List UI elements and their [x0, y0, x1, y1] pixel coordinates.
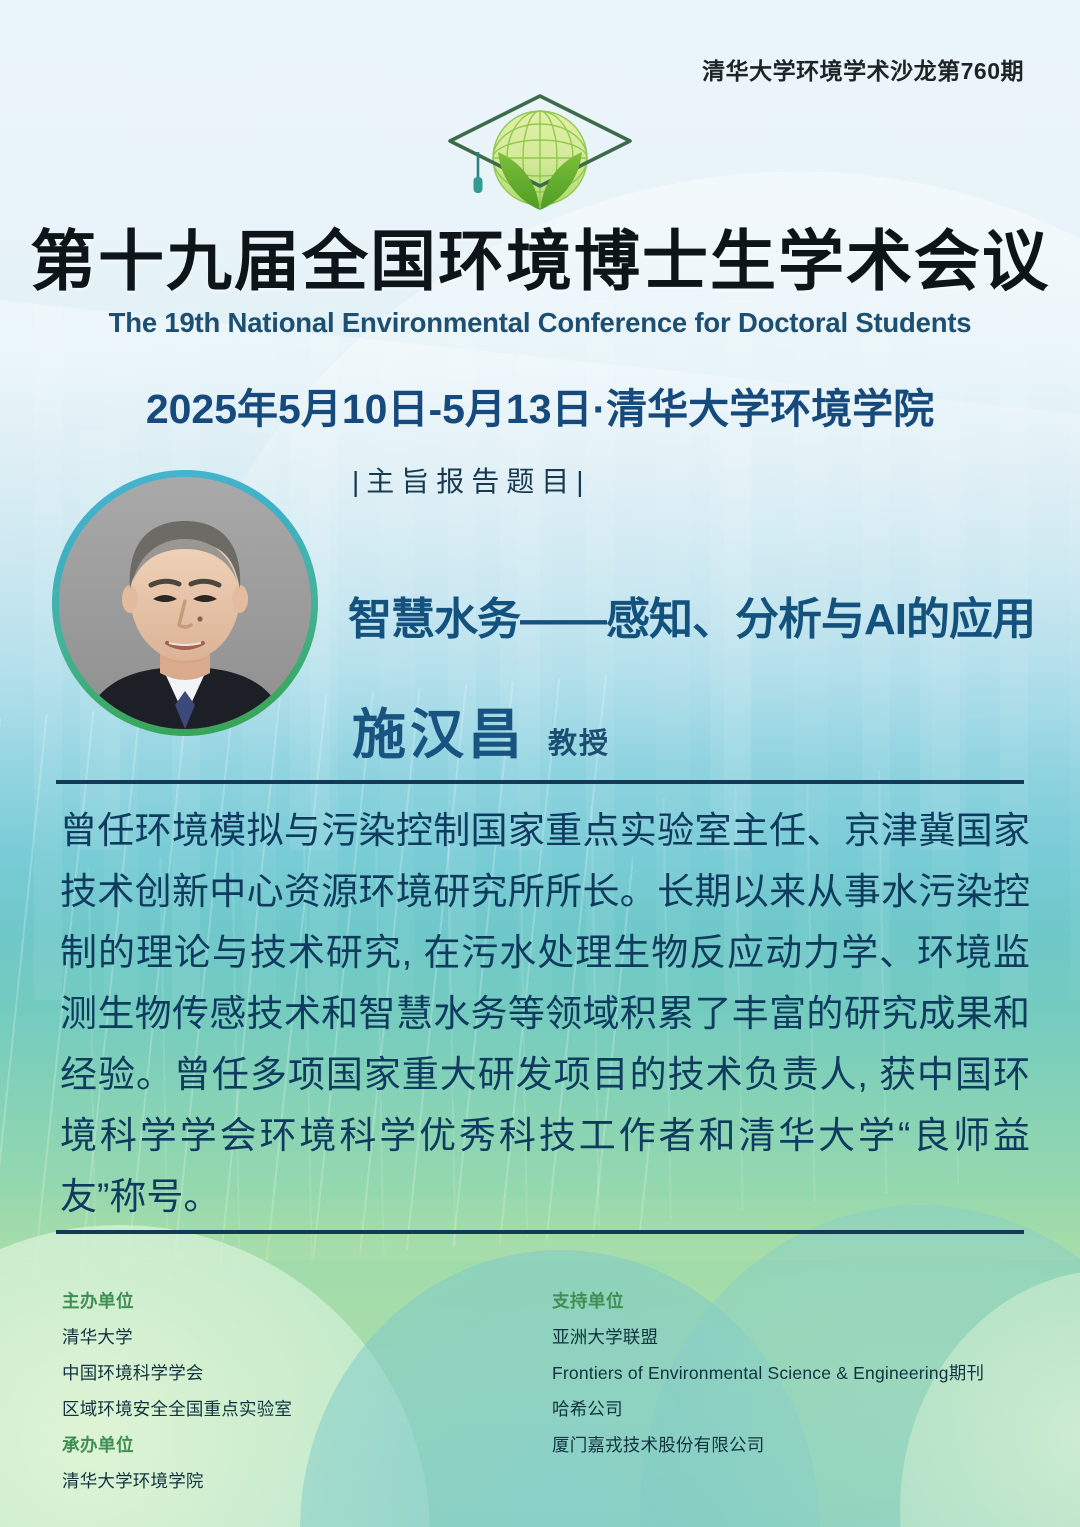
keynote-section-label: |主旨报告题目|: [352, 460, 591, 500]
speaker-name: 施汉昌: [352, 690, 526, 769]
speaker-row: 施汉昌 教授: [352, 690, 610, 769]
speaker-rank: 教授: [548, 720, 610, 762]
issue-number-label: 清华大学环境学术沙龙第760期: [702, 52, 1024, 86]
footer-right-heading: 支持单位: [552, 1288, 1042, 1313]
footer-left-item: 清华大学: [62, 1324, 552, 1349]
keynote-talk-title: 智慧水务——感知、分析与AI的应用: [348, 583, 1035, 647]
footer-right-item: 亚洲大学联盟: [552, 1324, 1042, 1349]
divider-top: [56, 780, 1024, 784]
divider-bottom: [56, 1230, 1024, 1234]
poster-root: 清华大学环境学术沙龙第760期: [0, 0, 1080, 1527]
footer-left-heading: 承办单位: [62, 1432, 552, 1457]
page-title: 第十九届全国环境博士生学术会议: [0, 228, 1080, 294]
speaker-bio-paragraph: 曾任环境模拟与污染控制国家重点实验室主任、京津冀国家技术创新中心资源环境研究所所…: [60, 800, 1030, 1227]
avatar: [52, 470, 318, 736]
footer-right-item: 哈希公司: [552, 1396, 1042, 1421]
footer-left-item: 区域环境安全全国重点实验室: [62, 1396, 552, 1421]
footer-right-item: Frontiers of Environmental Science & Eng…: [552, 1360, 1042, 1385]
footer-left-item: 清华大学环境学院: [62, 1468, 552, 1493]
footer-left-heading: 主办单位: [62, 1288, 552, 1313]
conference-logo-icon: [425, 86, 655, 214]
page-subtitle-english: The 19th National Environmental Conferen…: [0, 307, 1080, 339]
date-venue-line: 2025年5月10日-5月13日·清华大学环境学院: [0, 375, 1080, 435]
footer-left-column: 主办单位清华大学中国环境科学学会区域环境安全全国重点实验室承办单位清华大学环境学…: [62, 1288, 552, 1504]
footer-organizations: 主办单位清华大学中国环境科学学会区域环境安全全国重点实验室承办单位清华大学环境学…: [62, 1288, 1042, 1504]
footer-right-column: 支持单位亚洲大学联盟Frontiers of Environmental Sci…: [552, 1288, 1042, 1504]
speaker-portrait-photo: [59, 477, 311, 729]
footer-right-item: 厦门嘉戎技术股份有限公司: [552, 1432, 1042, 1457]
footer-left-item: 中国环境科学学会: [62, 1360, 552, 1385]
